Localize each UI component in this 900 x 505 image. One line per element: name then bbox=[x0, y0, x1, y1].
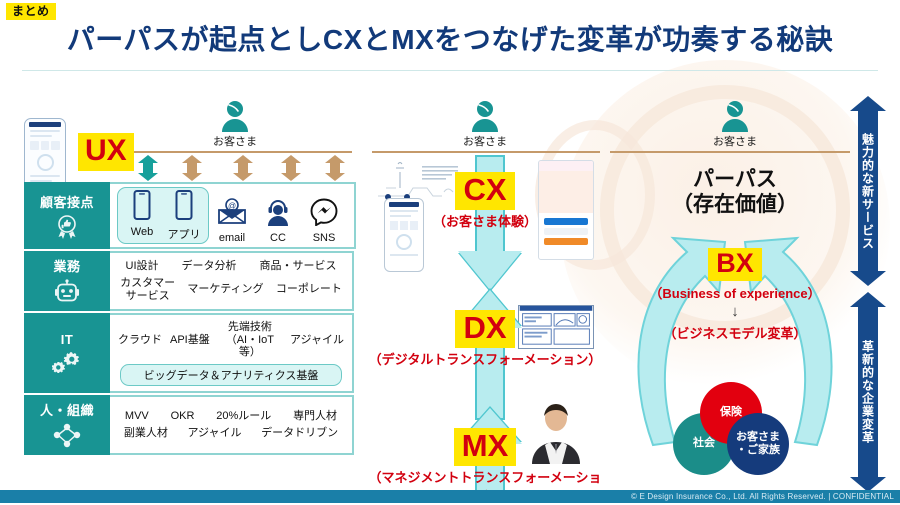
chip-mvv[interactable]: MVV bbox=[123, 409, 151, 424]
capability-matrix: 顧客接点 Web bbox=[24, 182, 354, 455]
side-arrow-new-services: 魅力的な新サービス bbox=[850, 96, 886, 286]
cx-sublabel: （お客さま体験） bbox=[365, 211, 605, 230]
touchpoint-label: Web bbox=[122, 226, 162, 238]
touchpoint-sns[interactable]: SNS bbox=[301, 198, 347, 244]
touchpoint-label: SNS bbox=[301, 232, 347, 244]
page-title: パーパスが起点としCXとMXをつなげた変革が功奏する秘訣 bbox=[0, 18, 900, 58]
matrix-row-label: 人・組織 bbox=[40, 400, 94, 419]
connector-arrow-web bbox=[138, 155, 158, 181]
touchpoint-app[interactable]: アプリ bbox=[164, 190, 204, 242]
headset-agent-icon bbox=[264, 198, 292, 226]
matrix-row-body-operations: UI設計 データ分析 商品・サービス カスタマー サービス マーケティング コー… bbox=[110, 251, 354, 311]
chip-side-job-talent[interactable]: 副業人材 bbox=[122, 426, 170, 441]
mx-badge: MX bbox=[454, 428, 517, 466]
connector-arrow-app bbox=[182, 155, 202, 181]
envelope-at-icon: @ bbox=[217, 198, 247, 226]
copyright-text: © E Design Insurance Co., Ltd. All Right… bbox=[631, 492, 894, 501]
chip-20-percent-rule[interactable]: 20%ルール bbox=[214, 409, 273, 424]
connector-arrow-sns bbox=[325, 155, 345, 181]
matrix-row-head-people: 人・組織 bbox=[24, 395, 110, 455]
persona-customer-right: お客さま bbox=[675, 100, 795, 149]
touchpoint-group-highlight: Web アプリ bbox=[117, 187, 209, 244]
chip-corporate[interactable]: コーポレート bbox=[274, 282, 344, 297]
chip-line: MVV OKR 20%ルール 専門人材 bbox=[116, 409, 346, 424]
person-icon bbox=[218, 100, 252, 132]
phone-grid bbox=[30, 141, 60, 150]
phone-header-bar bbox=[29, 122, 61, 127]
touchpoint-email[interactable]: @ email bbox=[209, 198, 255, 244]
phone-line bbox=[30, 130, 60, 132]
matrix-row-label: 顧客接点 bbox=[40, 192, 94, 211]
chip-bigdata-analytics-platform[interactable]: ビッグデータ＆アナリティクス基盤 bbox=[120, 364, 342, 386]
purpose-line2: （存在価値） bbox=[620, 193, 850, 218]
network-people-icon bbox=[52, 423, 82, 449]
chip-api-platform[interactable]: API基盤 bbox=[168, 333, 212, 348]
person-icon bbox=[468, 100, 502, 132]
chip-customer-service[interactable]: カスタマー サービス bbox=[118, 276, 177, 303]
touchpoint-label: CC bbox=[255, 232, 301, 244]
side-arrow-bottom-label: 革新的な企業変革 bbox=[850, 306, 886, 478]
dx-badge: DX bbox=[455, 310, 514, 348]
footer-bar: © E Design Insurance Co., Ltd. All Right… bbox=[0, 490, 900, 503]
person-icon bbox=[718, 100, 752, 132]
chip-line: UI設計 データ分析 商品・サービス bbox=[116, 259, 346, 274]
matrix-row-label: 業務 bbox=[53, 256, 80, 275]
matrix-row-body-it: クラウド API基盤 先端技術 （AI・IoT等） アジャイル ビッグデータ＆ア… bbox=[110, 313, 354, 393]
phone-circle bbox=[37, 154, 54, 171]
persona-label: お客さま bbox=[675, 133, 795, 149]
touchpoint-cc[interactable]: CC bbox=[255, 198, 301, 244]
robot-icon bbox=[54, 279, 80, 305]
bx-block: BX （Business of experience） ↓ （ビジネスモデル変革… bbox=[605, 248, 865, 342]
matrix-row-head-it: IT bbox=[24, 313, 110, 393]
chip-cloud[interactable]: クラウド bbox=[116, 333, 164, 348]
chip-line: カスタマー サービス マーケティング コーポレート bbox=[116, 276, 346, 303]
chat-bubble-icon bbox=[310, 198, 338, 226]
phone-line bbox=[30, 175, 60, 177]
phone-mockup bbox=[24, 118, 66, 192]
title-divider bbox=[22, 70, 878, 71]
venn-circle-customer: お客さま ・ご家族 bbox=[727, 413, 789, 475]
bx-japanese-label: （ビジネスモデル変革） bbox=[605, 323, 865, 342]
touchpoint-label: email bbox=[209, 232, 255, 244]
cx-label-group: CX （お客さま体験） bbox=[365, 172, 605, 230]
matrix-row-body-touchpoints: Web アプリ @ bbox=[110, 182, 356, 249]
matrix-row: 顧客接点 Web bbox=[24, 182, 354, 251]
dx-label-group: DX （デジタルトランスフォーメーション） bbox=[365, 310, 605, 368]
cx-badge: CX bbox=[455, 172, 514, 210]
down-arrow-icon: ↓ bbox=[605, 304, 865, 321]
connector-arrow-cc bbox=[281, 155, 301, 181]
matrix-row: 業務 UI設計 データ分析 商品・サービス カスタマー サービス マーケティング bbox=[24, 251, 354, 313]
chip-data-driven[interactable]: データドリブン bbox=[259, 426, 340, 441]
column-rule-right bbox=[610, 151, 850, 153]
chip-line: 副業人材 アジャイル データドリブン bbox=[116, 426, 346, 441]
touchpoint-web[interactable]: Web bbox=[122, 190, 162, 242]
chip-data-analysis[interactable]: データ分析 bbox=[180, 259, 239, 274]
chip-okr[interactable]: OKR bbox=[169, 409, 197, 424]
matrix-row-label: IT bbox=[61, 332, 74, 347]
ux-badge: UX bbox=[78, 133, 134, 171]
smartphone-icon bbox=[132, 190, 152, 220]
touchpoint-label: アプリ bbox=[164, 226, 204, 242]
touchpoint-line: Web アプリ @ bbox=[115, 187, 349, 244]
matrix-row-head-operations: 業務 bbox=[24, 251, 110, 311]
side-arrow-corporate-transformation: 革新的な企業変革 bbox=[850, 292, 886, 492]
matrix-row-head-touchpoints: 顧客接点 bbox=[24, 182, 110, 249]
smartphone-icon bbox=[174, 190, 194, 220]
gears-icon bbox=[52, 351, 82, 373]
chip-agile[interactable]: アジャイル bbox=[288, 333, 346, 348]
matrix-row: 人・組織 MVV OKR 20%ルール 専門人材 bbox=[24, 395, 354, 455]
chip-advanced-tech[interactable]: 先端技術 （AI・IoT等） bbox=[216, 320, 284, 360]
phone-line bbox=[30, 135, 52, 137]
badge-thumbsup-icon bbox=[54, 215, 80, 239]
column-rule-left bbox=[130, 151, 352, 153]
connector-arrow-email bbox=[233, 155, 253, 181]
matrix-row: IT クラウド API基盤 先端技術 （AI・IoT等） アジャイル ビッグデー… bbox=[24, 313, 354, 395]
matrix-row-body-people: MVV OKR 20%ルール 専門人材 副業人材 アジャイル データドリブン bbox=[110, 395, 354, 455]
chip-marketing[interactable]: マーケティング bbox=[185, 282, 265, 297]
persona-label: お客さま bbox=[175, 133, 295, 149]
purpose-title: パーパス （存在価値） bbox=[620, 168, 850, 218]
dx-sublabel: （デジタルトランスフォーメーション） bbox=[365, 349, 605, 368]
persona-customer-left: お客さま bbox=[175, 100, 295, 149]
chip-products-services[interactable]: 商品・サービス bbox=[258, 259, 339, 274]
chip-line: クラウド API基盤 先端技術 （AI・IoT等） アジャイル bbox=[116, 320, 346, 360]
persona-label: お客さま bbox=[425, 133, 545, 149]
side-arrow-top-label: 魅力的な新サービス bbox=[850, 110, 886, 272]
persona-customer-center: お客さま bbox=[425, 100, 545, 149]
chip-specialist-talent[interactable]: 専門人材 bbox=[291, 409, 339, 424]
purpose-line1: パーパス bbox=[620, 168, 850, 193]
chip-ui-design[interactable]: UI設計 bbox=[124, 259, 161, 274]
bx-badge: BX bbox=[708, 248, 762, 281]
bx-english-label: （Business of experience） bbox=[605, 283, 865, 302]
chip-agile-people[interactable]: アジャイル bbox=[185, 426, 243, 441]
column-rule-center bbox=[372, 151, 600, 153]
